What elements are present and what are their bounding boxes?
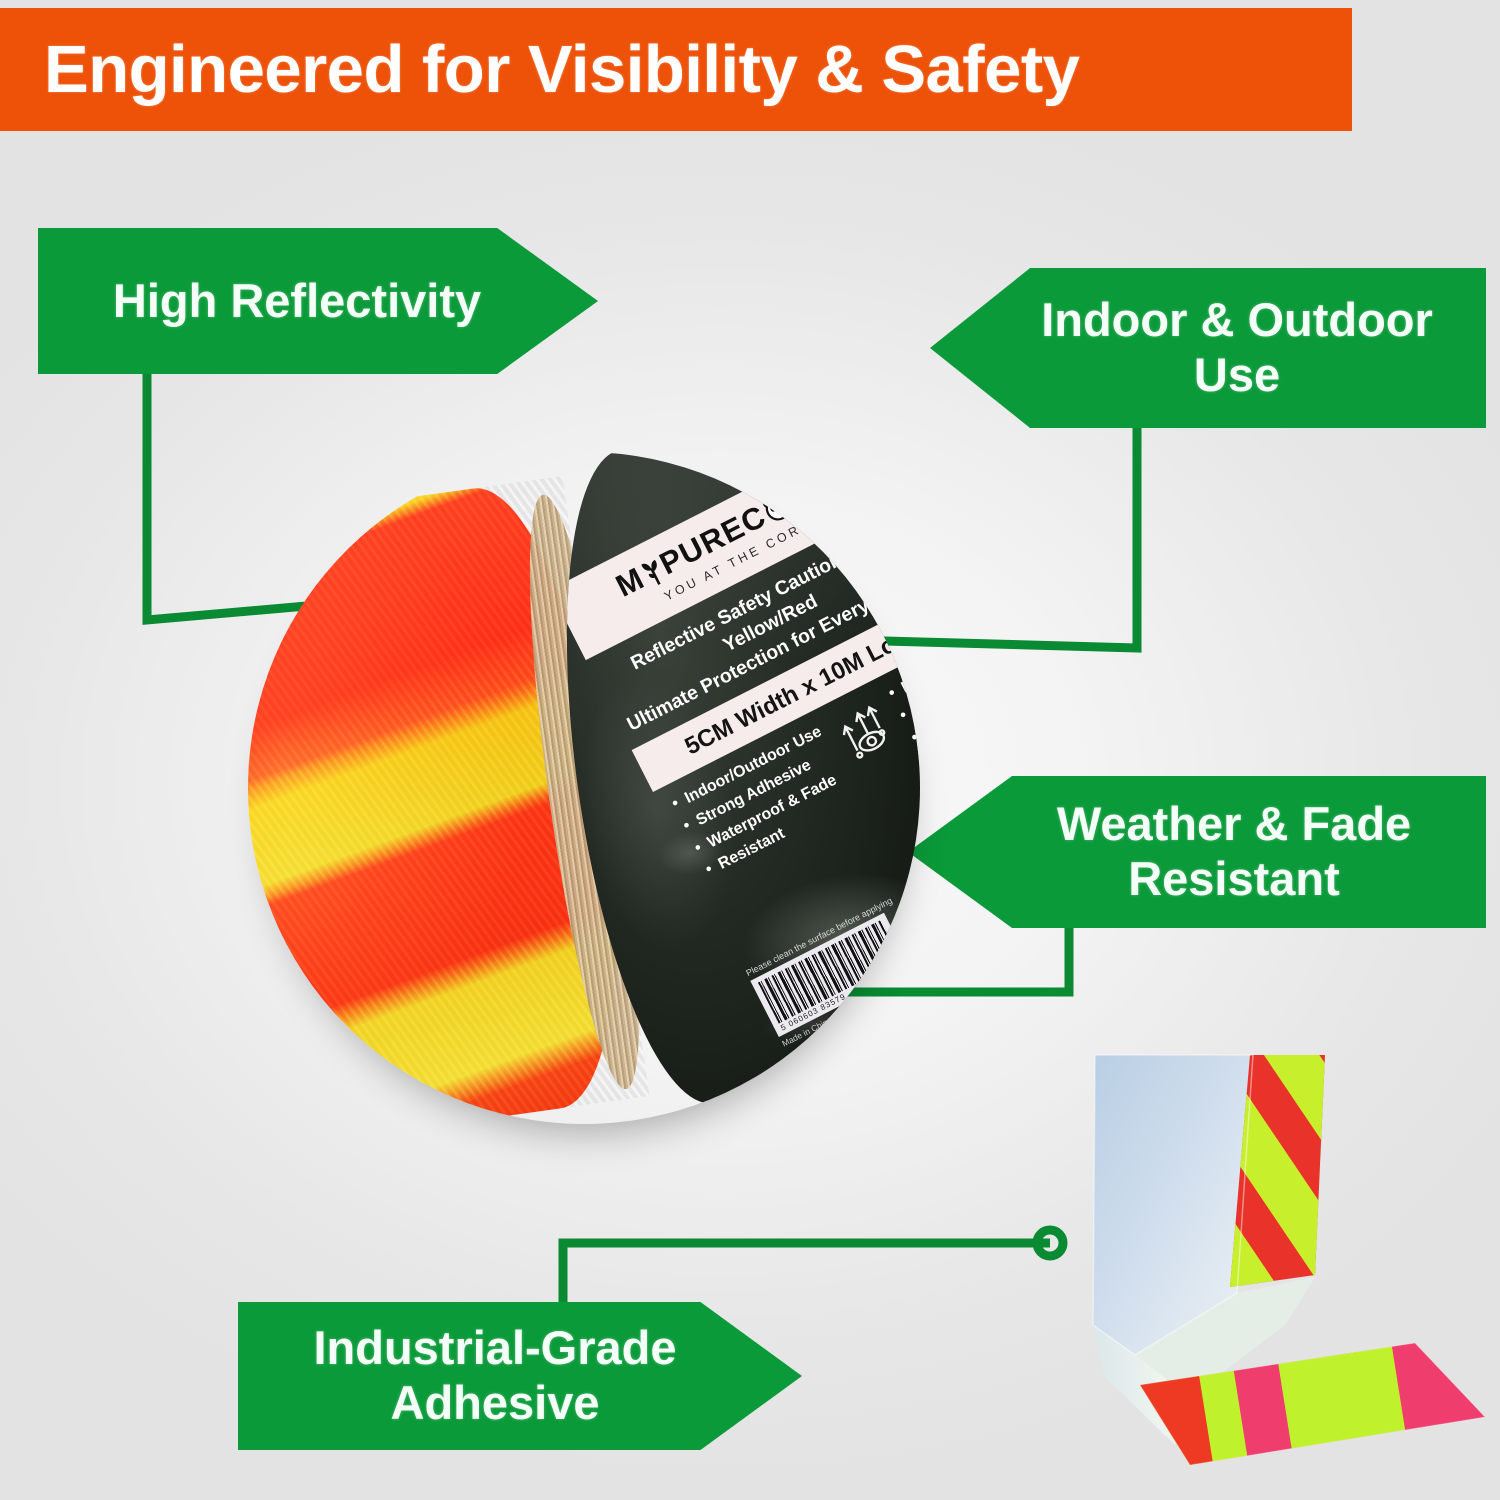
callout-label: Indoor & Outdoor Use bbox=[930, 293, 1486, 402]
unrolled-tape-strip bbox=[985, 1025, 1500, 1495]
header-band: Engineered for Visibility & Safety bbox=[0, 8, 1352, 131]
callout-indoor-outdoor[interactable]: Indoor & Outdoor Use bbox=[930, 268, 1486, 428]
callout-label: Industrial-Grade Adhesive bbox=[238, 1321, 802, 1430]
infographic-canvas: Engineered for Visibility & Safety High … bbox=[0, 0, 1500, 1500]
callout-high-reflectivity[interactable]: High Reflectivity bbox=[38, 228, 598, 374]
page-title: Engineered for Visibility & Safety bbox=[44, 31, 1079, 108]
callout-label: High Reflectivity bbox=[65, 274, 571, 329]
callout-industrial-adhesive[interactable]: Industrial-Grade Adhesive bbox=[238, 1302, 802, 1450]
list-item: Safety Enhancer bbox=[907, 666, 962, 751]
callout-weather-fade[interactable]: Weather & Fade Resistant bbox=[908, 776, 1486, 928]
connector-industrial-adhesive bbox=[563, 1243, 1050, 1302]
callout-label: Weather & Fade Resistant bbox=[908, 797, 1486, 906]
roll-body: M PUREC bbox=[205, 409, 964, 1168]
tape-roll-image: M PUREC bbox=[248, 452, 920, 1124]
